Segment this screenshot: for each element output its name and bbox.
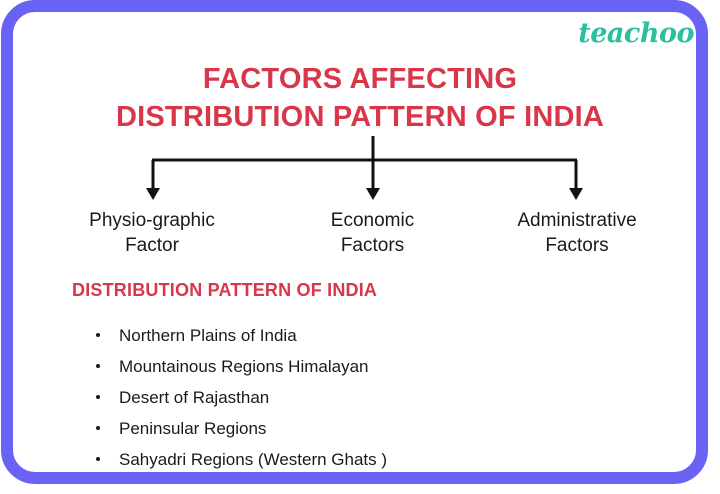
bullet-dot-icon — [96, 333, 100, 337]
teachoo-logo: teachoo — [578, 18, 694, 49]
list-item: Sahyadri Regions (Western Ghats ) — [92, 444, 387, 475]
arrowhead-left-icon — [146, 188, 160, 200]
list-item-label: Peninsular Regions — [119, 419, 266, 438]
bullet-dot-icon — [96, 395, 100, 399]
section-subheading: DISTRIBUTION PATTERN OF INDIA — [72, 280, 377, 301]
factor-economic-line-2: Factors — [275, 233, 470, 258]
list-item-label: Sahyadri Regions (Western Ghats ) — [119, 450, 387, 469]
factor-physiographic: Physio-graphic Factor — [52, 208, 252, 258]
list-item: Peninsular Regions — [92, 413, 387, 444]
flowchart-connector — [0, 136, 720, 206]
arrowhead-middle-icon — [366, 188, 380, 200]
bullet-dot-icon — [96, 426, 100, 430]
arrowhead-right-icon — [569, 188, 583, 200]
list-item-label: Northern Plains of India — [119, 326, 297, 345]
page-title: FACTORS AFFECTING DISTRIBUTION PATTERN O… — [0, 60, 720, 136]
list-item: Northern Plains of India — [92, 320, 387, 351]
factor-labels-row: Physio-graphic Factor Economic Factors A… — [0, 208, 720, 264]
bullet-dot-icon — [96, 457, 100, 461]
factor-administrative-line-2: Factors — [477, 233, 677, 258]
factor-physiographic-line-1: Physio-graphic — [52, 208, 252, 233]
list-item-label: Mountainous Regions Himalayan — [119, 357, 368, 376]
slide-canvas: teachoo FACTORS AFFECTING DISTRIBUTION P… — [0, 0, 720, 494]
list-item: Desert of Rajasthan — [92, 382, 387, 413]
factor-economic-line-1: Economic — [275, 208, 470, 233]
list-item-label: Desert of Rajasthan — [119, 388, 269, 407]
bullet-dot-icon — [96, 364, 100, 368]
factor-administrative: Administrative Factors — [477, 208, 677, 258]
factor-physiographic-line-2: Factor — [52, 233, 252, 258]
list-item: Mountainous Regions Himalayan — [92, 351, 387, 382]
factor-economic: Economic Factors — [275, 208, 470, 258]
page-title-line-2: DISTRIBUTION PATTERN OF INDIA — [0, 98, 720, 136]
page-title-line-1: FACTORS AFFECTING — [0, 60, 720, 98]
distribution-pattern-list: Northern Plains of India Mountainous Reg… — [92, 320, 387, 475]
factor-administrative-line-1: Administrative — [477, 208, 677, 233]
